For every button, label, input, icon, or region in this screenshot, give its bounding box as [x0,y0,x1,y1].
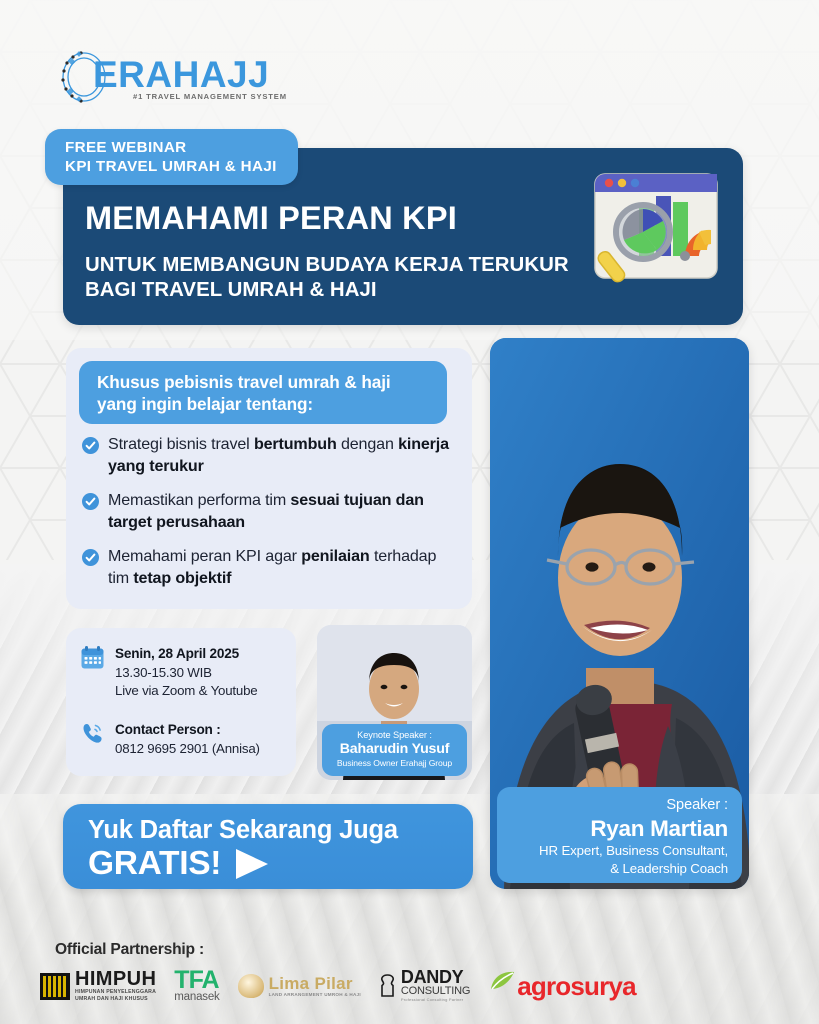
keynote-role: Keynote Speaker : [330,730,459,741]
phone-icon [80,721,105,746]
speaker-role: Speaker : [507,796,728,815]
partner-agrosurya: agrosurya [488,969,636,1003]
check-circle-icon [82,549,99,589]
event-schedule-text: Senin, 28 April 2025 13.30-15.30 WIB Liv… [115,645,258,701]
check-circle-icon [82,437,99,477]
event-time: 13.30-15.30 WIB [115,664,258,683]
page-subtitle: UNTUK MEMBANGUN BUDAYA KERJA TERUKUR BAG… [85,253,569,303]
lima-pilar-dome-icon [238,974,264,998]
benefit-item: Memahami peran KPI agar penilaian terhad… [82,546,458,589]
dandy-sub: CONSULTING [401,985,470,997]
main-speaker-card: Speaker : Ryan Martian HR Expert, Busine… [490,338,749,889]
benefits-heading-line2: yang ingin belajar tentang: [97,393,447,415]
calendar-icon [80,645,105,670]
event-schedule-row: Senin, 28 April 2025 13.30-15.30 WIB Liv… [80,645,258,701]
event-info-card: Senin, 28 April 2025 13.30-15.30 WIB Liv… [66,628,296,776]
lima-pilar-name: Lima Pilar [269,975,361,992]
partner-lima-pilar: Lima Pilar LAND ARRANGEMENT UMROH & HAJI [238,974,361,998]
keynote-org: Business Owner Erahajj Group [330,758,459,769]
event-platform: Live via Zoom & Youtube [115,682,258,701]
free-webinar-badge: FREE WEBINAR KPI TRAVEL UMRAH & HAJI [45,129,298,185]
benefit-item-text: Memastikan performa tim sesuai tujuan da… [108,490,458,533]
benefits-heading-line1: Khusus pebisnis travel umrah & haji [97,371,447,393]
badge-line2: KPI TRAVEL UMRAH & HAJI [65,158,298,177]
page-title: MEMAHAMI PERAN KPI [85,201,457,235]
cta-line1: Yuk Daftar Sekarang Juga [88,816,473,845]
benefit-item-text: Strategi bisnis travel bertumbuh dengan … [108,434,458,477]
partner-himpuh: HIMPUH HIMPUNAN PENYELENGGARA UMRAH DAN … [40,970,156,1002]
speaker-name: Ryan Martian [507,815,728,842]
himpuh-sub2: UMRAH DAN HAJI KHUSUS [75,996,156,1002]
keynote-name: Baharudin Yusuf [330,741,459,758]
agrosurya-leaf-icon [488,969,516,995]
check-circle-icon [82,493,99,533]
contact-row[interactable]: Contact Person : 0812 9695 2901 (Annisa) [80,721,260,758]
benefits-heading: Khusus pebisnis travel umrah & haji yang… [79,361,447,424]
page-subtitle-line2: BAGI TRAVEL UMRAH & HAJI [85,278,569,303]
partnership-title: Official Partnership : [55,941,204,959]
keynote-name-band: Keynote Speaker : Baharudin Yusuf Busine… [322,724,467,776]
himpuh-name: HIMPUH [75,970,156,989]
dandy-consulting-icon [379,974,396,998]
agrosurya-name: agrosurya [517,974,636,998]
benefits-card: Khusus pebisnis travel umrah & haji yang… [66,348,472,609]
register-cta-button[interactable]: Yuk Daftar Sekarang Juga GRATIS! [63,804,473,889]
benefit-item: Memastikan performa tim sesuai tujuan da… [82,490,458,533]
badge-line1: FREE WEBINAR [65,139,298,158]
page-subtitle-line1: UNTUK MEMBANGUN BUDAYA KERJA TERUKUR [85,253,569,278]
logo-wordmark: ERAHAJJ [93,54,269,96]
benefit-item-text: Memahami peran KPI agar penilaian terhad… [108,546,458,589]
partner-tfa: TFA manasek [174,969,219,1003]
event-date: Senin, 28 April 2025 [115,645,258,664]
dandy-tagline: Professional Consulting Partner [401,997,470,1003]
himpuh-sub1: HIMPUNAN PENYELENGGARA [75,989,156,995]
play-triangle-icon [231,846,273,882]
himpuh-kaaba-icon [40,973,70,1000]
benefits-list: Strategi bisnis travel bertumbuh dengan … [82,434,458,602]
dandy-name: DANDY [401,969,470,985]
speaker-name-band: Speaker : Ryan Martian HR Expert, Busine… [497,787,742,883]
contact-text: Contact Person : 0812 9695 2901 (Annisa) [115,721,260,758]
benefit-item: Strategi bisnis travel bertumbuh dengan … [82,434,458,477]
contact-number: 0812 9695 2901 (Annisa) [115,740,260,759]
erahajj-logo: ERAHAJJ #1 TRAVEL MANAGEMENT SYSTEM [57,48,287,104]
cta-line2: GRATIS! [88,846,221,882]
speaker-desc-line2: & Leadership Coach [507,860,728,878]
logo-tagline: #1 TRAVEL MANAGEMENT SYSTEM [133,92,287,101]
keynote-speaker-card: ERAHAJJ Keynote Speaker : Baharudin Yusu… [317,625,472,780]
contact-label: Contact Person : [115,721,260,740]
analytics-dashboard-icon [581,162,729,294]
partner-logos: HIMPUH HIMPUNAN PENYELENGGARA UMRAH DAN … [40,962,780,1010]
lima-pilar-sub: LAND ARRANGEMENT UMROH & HAJI [269,992,361,998]
tfa-sub: manasek [174,991,219,1003]
speaker-desc-line1: HR Expert, Business Consultant, [507,842,728,860]
partner-dandy: DANDY CONSULTING Professional Consulting… [379,969,470,1003]
tfa-name: TFA [174,969,219,991]
